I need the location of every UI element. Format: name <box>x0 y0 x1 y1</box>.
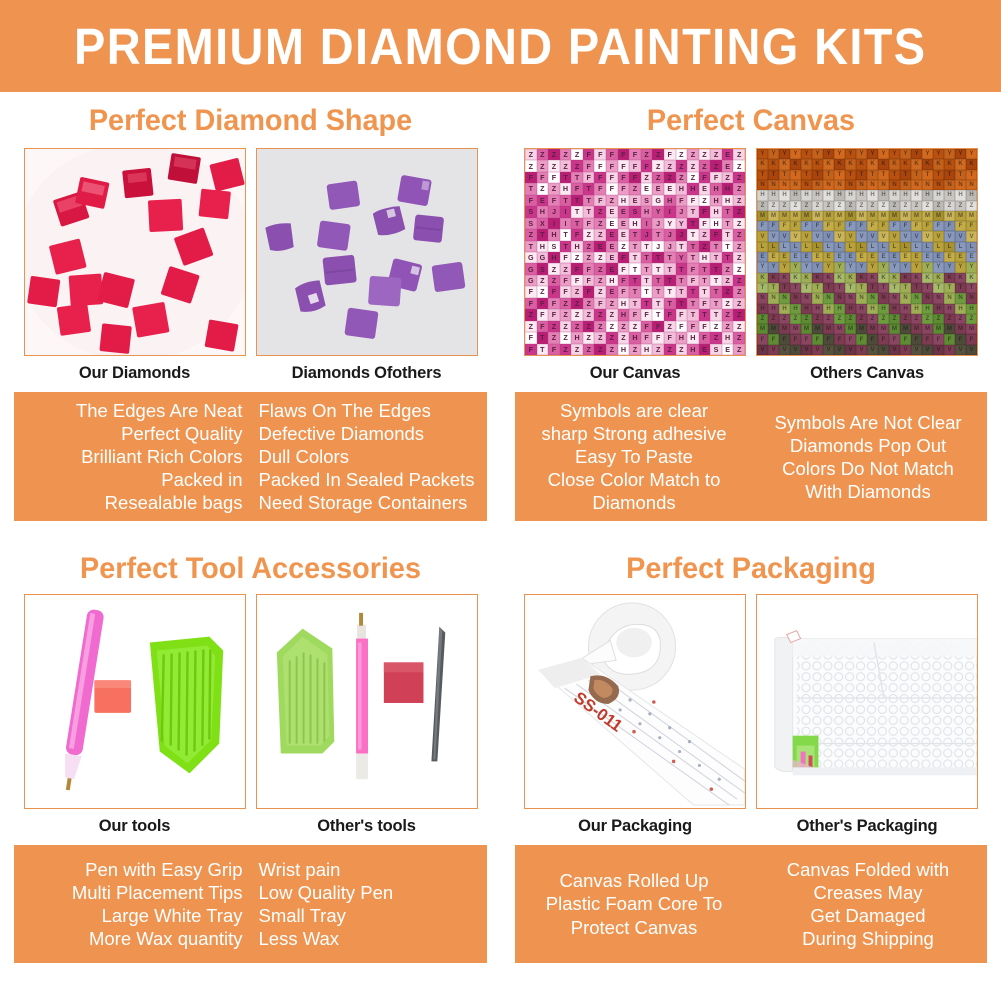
canvas-color-cell: K <box>812 273 823 283</box>
canvas-symbol-cell: H <box>710 206 722 217</box>
canvas-color-cell: Y <box>856 149 867 159</box>
canvas-symbol-cell: J <box>548 206 560 217</box>
canvas-color-cell: N <box>779 293 790 303</box>
canvas-color-cell: K <box>889 273 900 283</box>
canvas-symbol-cell: Z <box>699 195 711 206</box>
canvas-symbol-cell: Z <box>629 183 641 194</box>
canvas-symbol-cell: Z <box>722 309 734 320</box>
canvas-color-cell: K <box>966 273 977 283</box>
compare-line: Creases May <box>751 881 985 904</box>
canvas-color-cell: H <box>911 190 922 200</box>
compare-col-theirs-canvas: Symbols Are Not Clear Diamonds Pop Out C… <box>751 392 987 521</box>
canvas-color-cell: V <box>823 231 834 241</box>
canvas-color-cell: E <box>922 252 933 262</box>
image-row-packaging: SS-011 Our Packaging <box>509 594 993 836</box>
page-header: PREMIUM DIAMOND PAINTING KITS <box>0 0 1001 92</box>
canvas-symbol-cell: F <box>641 160 653 171</box>
canvas-color-cell: H <box>779 304 790 314</box>
canvas-color-cell: Z <box>933 201 944 211</box>
canvas-symbol-cell: E <box>641 183 653 194</box>
canvas-color-cell: F <box>757 221 768 231</box>
canvas-color-cell: H <box>779 190 790 200</box>
canvas-symbol-cell: H <box>548 229 560 240</box>
canvas-symbol-cell: F <box>548 286 560 297</box>
canvas-symbol-cell: Z <box>687 149 699 160</box>
image-row-diamond-shape: Our Diamonds <box>8 148 493 383</box>
canvas-symbol-cell: Z <box>525 149 537 160</box>
canvas-color-cell: K <box>900 273 911 283</box>
canvas-color-cell: M <box>944 324 955 334</box>
canvas-color-cell: K <box>922 159 933 169</box>
canvas-color-cell: N <box>955 180 966 190</box>
image-cell-other-tools: Other's tools <box>256 594 478 836</box>
canvas-symbol-cell: E <box>618 218 630 229</box>
canvas-symbol-cell: T <box>687 286 699 297</box>
canvas-symbol-cell: H <box>687 344 699 355</box>
compare-col-ours-canvas: Symbols are clear sharp Strong adhesive … <box>515 392 751 521</box>
canvas-color-cell: H <box>790 304 801 314</box>
canvas-symbol-cell: T <box>687 206 699 217</box>
canvas-color-cell: M <box>867 211 878 221</box>
canvas-symbol-cell: F <box>537 321 549 332</box>
compare-col-ours-tools: Pen with Easy Grip Multi Placement Tips … <box>14 845 251 963</box>
canvas-color-cell: T <box>966 283 977 293</box>
muddy-color-canvas-illustration: YYYYYYYYYYYYYYYYYYYYKKKKKKKKKKKKKKKKKKKK… <box>757 149 977 355</box>
canvas-color-cell: Y <box>834 262 845 272</box>
canvas-symbol-cell: T <box>664 275 676 286</box>
canvas-symbol-cell: Z <box>664 160 676 171</box>
canvas-color-cell: K <box>856 273 867 283</box>
canvas-symbol-cell: T <box>525 241 537 252</box>
canvas-color-cell: F <box>845 334 856 344</box>
canvas-color-cell: E <box>911 252 922 262</box>
canvas-symbol-cell: T <box>560 172 572 183</box>
canvas-color-cell: N <box>944 180 955 190</box>
photo-frame-other-packaging <box>756 594 978 809</box>
caption-other-diamonds: Diamonds Ofothers <box>256 356 478 383</box>
canvas-color-cell: Z <box>801 201 812 211</box>
canvas-symbol-cell: I <box>641 218 653 229</box>
compare-line: Diamonds <box>517 491 751 514</box>
other-tools-illustration <box>257 595 477 808</box>
canvas-symbol-cell: F <box>594 172 606 183</box>
canvas-symbol-cell: T <box>664 263 676 274</box>
canvas-symbol-cell: F <box>699 332 711 343</box>
canvas-color-cell: K <box>944 159 955 169</box>
compare-col-ours-diamond-shape: The Edges Are Neat Perfect Quality Brill… <box>14 392 251 521</box>
canvas-color-cell: Z <box>922 201 933 211</box>
canvas-color-cell: M <box>867 324 878 334</box>
canvas-color-cell: V <box>911 231 922 241</box>
compare-box-tools: Pen with Easy Grip Multi Placement Tips … <box>14 845 487 963</box>
canvas-color-cell: T <box>823 170 834 180</box>
photo-frame-our-diamonds <box>24 148 246 356</box>
canvas-symbol-cell: Z <box>710 321 722 332</box>
canvas-symbol-cell: F <box>699 206 711 217</box>
canvas-color-cell: M <box>966 211 977 221</box>
canvas-symbol-cell: F <box>606 172 618 183</box>
canvas-symbol-cell: Z <box>571 321 583 332</box>
canvas-color-cell: T <box>757 283 768 293</box>
compare-line: Multi Placement Tips <box>16 881 243 904</box>
canvas-symbol-cell: Z <box>560 332 572 343</box>
canvas-color-cell: Z <box>757 314 768 324</box>
canvas-color-cell: N <box>911 180 922 190</box>
canvas-color-cell: F <box>768 221 779 231</box>
canvas-symbol-cell: H <box>687 332 699 343</box>
canvas-color-cell: N <box>768 180 779 190</box>
canvas-symbol-cell: T <box>652 263 664 274</box>
canvas-color-cell: V <box>834 345 845 355</box>
canvas-symbol-cell: H <box>606 275 618 286</box>
canvas-color-cell: M <box>900 324 911 334</box>
canvas-color-cell: L <box>834 242 845 252</box>
canvas-color-cell: H <box>878 190 889 200</box>
canvas-color-cell: M <box>955 211 966 221</box>
canvas-symbol-cell: F <box>699 172 711 183</box>
canvas-color-cell: N <box>878 180 889 190</box>
canvas-color-cell: Z <box>900 314 911 324</box>
canvas-color-cell: M <box>922 211 933 221</box>
canvas-symbol-cell: T <box>641 241 653 252</box>
compare-line: Wrist pain <box>259 858 486 881</box>
canvas-symbol-cell: Z <box>618 332 630 343</box>
canvas-color-cell: N <box>900 293 911 303</box>
canvas-symbol-cell: F <box>583 160 595 171</box>
canvas-symbol-cell: F <box>676 309 688 320</box>
canvas-color-cell: N <box>790 293 801 303</box>
compare-line: Resealable bags <box>16 491 243 514</box>
canvas-color-cell: T <box>867 283 878 293</box>
compare-line: sharp Strong adhesive <box>517 422 751 445</box>
canvas-symbol-cell: F <box>583 286 595 297</box>
canvas-color-cell: T <box>779 283 790 293</box>
canvas-color-cell: T <box>823 283 834 293</box>
canvas-symbol-cell: F <box>537 172 549 183</box>
canvas-symbol-cell: T <box>652 309 664 320</box>
canvas-color-cell: Y <box>911 149 922 159</box>
canvas-symbol-cell: E <box>629 195 641 206</box>
canvas-color-cell: Y <box>955 149 966 159</box>
section-title-diamond-shape: Perfect Diamond Shape <box>18 92 484 148</box>
section-canvas: Perfect Canvas ZZZZZFFFFFZZFZZZZEZZZZZZF… <box>501 92 1001 536</box>
compare-line: Packed in <box>16 468 243 491</box>
canvas-symbol-cell: E <box>537 195 549 206</box>
green-tray-icon <box>276 629 333 754</box>
purple-diamonds-illustration <box>257 149 477 355</box>
canvas-color-cell: F <box>812 334 823 344</box>
canvas-symbol-cell: J <box>676 229 688 240</box>
canvas-symbol-cell: I <box>548 218 560 229</box>
canvas-color-cell: T <box>845 170 856 180</box>
canvas-color-cell: M <box>790 211 801 221</box>
canvas-symbol-cell: Z <box>733 309 745 320</box>
canvas-symbol-cell: F <box>652 332 664 343</box>
canvas-color-cell: Y <box>757 262 768 272</box>
canvas-color-cell: T <box>878 283 889 293</box>
bubble-mailer-illustration <box>757 595 977 808</box>
canvas-color-cell: Z <box>867 201 878 211</box>
canvas-symbol-cell: F <box>571 183 583 194</box>
canvas-symbol-cell: H <box>676 332 688 343</box>
canvas-symbol-cell: Z <box>710 149 722 160</box>
canvas-color-cell: V <box>845 231 856 241</box>
canvas-color-cell: E <box>856 252 867 262</box>
canvas-color-cell: Z <box>911 201 922 211</box>
canvas-color-cell: L <box>823 242 834 252</box>
canvas-color-cell: H <box>834 190 845 200</box>
compare-line: Packed In Sealed Packets <box>259 468 486 491</box>
canvas-symbol-cell: F <box>594 298 606 309</box>
canvas-color-cell: Z <box>966 201 977 211</box>
canvas-color-cell: H <box>768 304 779 314</box>
canvas-symbol-cell: H <box>618 309 630 320</box>
canvas-symbol-cell: H <box>537 241 549 252</box>
canvas-color-cell: Z <box>966 314 977 324</box>
canvas-symbol-cell: F <box>618 172 630 183</box>
compare-line: Defective Diamonds <box>259 422 486 445</box>
canvas-color-cell: M <box>889 324 900 334</box>
canvas-color-cell: K <box>801 273 812 283</box>
canvas-symbol-cell: Z <box>652 160 664 171</box>
canvas-color-cell: T <box>900 283 911 293</box>
canvas-color-cell: Y <box>966 262 977 272</box>
canvas-color-cell: Z <box>834 201 845 211</box>
compare-line: Brilliant Rich Colors <box>16 445 243 468</box>
canvas-symbol-cell: H <box>629 218 641 229</box>
canvas-symbol-cell: Z <box>733 172 745 183</box>
canvas-color-cell: T <box>944 170 955 180</box>
canvas-color-cell: H <box>911 304 922 314</box>
canvas-symbol-cell: Z <box>733 332 745 343</box>
canvas-symbol-cell: T <box>629 275 641 286</box>
canvas-color-cell: T <box>922 283 933 293</box>
canvas-color-cell: V <box>812 345 823 355</box>
canvas-symbol-cell: T <box>676 241 688 252</box>
canvas-color-cell: K <box>768 273 779 283</box>
canvas-color-cell: V <box>878 345 889 355</box>
canvas-symbol-cell: Z <box>537 183 549 194</box>
canvas-symbol-cell: Z <box>606 332 618 343</box>
canvas-color-cell: H <box>933 304 944 314</box>
canvas-symbol-cell: F <box>618 149 630 160</box>
canvas-symbol-cell: Z <box>676 344 688 355</box>
canvas-symbol-cell: Z <box>618 321 630 332</box>
canvas-symbol-cell: E <box>594 241 606 252</box>
compare-line: Colors Do Not Match <box>751 457 985 480</box>
canvas-symbol-cell: H <box>722 332 734 343</box>
canvas-color-cell: N <box>900 180 911 190</box>
canvas-color-cell: H <box>801 304 812 314</box>
canvas-symbol-cell: E <box>606 218 618 229</box>
canvas-symbol-cell: Z <box>560 309 572 320</box>
canvas-symbol-cell: T <box>664 298 676 309</box>
canvas-color-cell: N <box>922 293 933 303</box>
canvas-color-cell: H <box>823 190 834 200</box>
canvas-color-cell: H <box>955 190 966 200</box>
canvas-symbol-cell: Z <box>687 160 699 171</box>
canvas-color-cell: M <box>955 324 966 334</box>
canvas-symbol-cell: T <box>652 252 664 263</box>
canvas-symbol-cell: S <box>525 206 537 217</box>
canvas-symbol-cell: T <box>687 241 699 252</box>
canvas-symbol-cell: Z <box>699 241 711 252</box>
canvas-color-cell: K <box>812 159 823 169</box>
canvas-symbol-cell: H <box>571 332 583 343</box>
canvas-color-cell: H <box>922 190 933 200</box>
canvas-symbol-cell: F <box>548 172 560 183</box>
canvas-color-cell: F <box>856 334 867 344</box>
canvas-color-cell: V <box>790 345 801 355</box>
canvas-color-cell: Z <box>779 314 790 324</box>
canvas-symbol-cell: Z <box>571 160 583 171</box>
canvas-symbol-cell: F <box>571 275 583 286</box>
canvas-symbol-cell: Z <box>676 160 688 171</box>
canvas-symbol-cell: T <box>652 286 664 297</box>
canvas-symbol-cell: Z <box>537 286 549 297</box>
canvas-color-cell: H <box>889 190 900 200</box>
canvas-color-cell: Y <box>889 262 900 272</box>
canvas-color-cell: H <box>933 190 944 200</box>
canvas-color-cell: F <box>856 221 867 231</box>
image-cell-our-diamonds: Our Diamonds <box>24 148 246 383</box>
canvas-symbol-cell: H <box>618 344 630 355</box>
canvas-symbol-cell: Z <box>583 321 595 332</box>
canvas-symbol-cell: F <box>687 263 699 274</box>
canvas-color-cell: N <box>966 293 977 303</box>
canvas-color-cell: T <box>911 283 922 293</box>
canvas-color-cell: T <box>790 170 801 180</box>
canvas-color-cell: N <box>878 293 889 303</box>
canvas-symbol-cell: T <box>537 229 549 240</box>
canvas-color-cell: V <box>900 231 911 241</box>
canvas-symbol-cell: F <box>560 275 572 286</box>
canvas-color-cell: V <box>801 231 812 241</box>
canvas-color-cell: F <box>933 334 944 344</box>
canvas-symbol-cell: Z <box>594 344 606 355</box>
rolled-tube-illustration: SS-011 <box>525 595 745 808</box>
canvas-symbol-cell: X <box>537 218 549 229</box>
canvas-color-cell: F <box>790 334 801 344</box>
canvas-color-cell: N <box>933 180 944 190</box>
canvas-symbol-cell: Z <box>560 344 572 355</box>
canvas-symbol-cell: Z <box>641 149 653 160</box>
canvas-color-cell: K <box>856 159 867 169</box>
compare-box-diamond-shape: The Edges Are Neat Perfect Quality Brill… <box>14 392 487 521</box>
canvas-symbol-cell: Y <box>676 252 688 263</box>
canvas-color-cell: Z <box>900 201 911 211</box>
canvas-symbol-cell: E <box>606 229 618 240</box>
canvas-color-cell: Y <box>801 149 812 159</box>
canvas-color-cell: E <box>966 252 977 262</box>
canvas-symbol-cell: E <box>606 252 618 263</box>
canvas-color-cell: F <box>834 221 845 231</box>
canvas-symbol-cell: Z <box>594 263 606 274</box>
canvas-color-cell: K <box>922 273 933 283</box>
canvas-color-cell: T <box>922 170 933 180</box>
canvas-color-cell: T <box>768 170 779 180</box>
canvas-symbol-cell: I <box>560 206 572 217</box>
canvas-color-cell: F <box>966 221 977 231</box>
canvas-color-cell: T <box>801 170 812 180</box>
canvas-symbol-cell: Z <box>722 172 734 183</box>
canvas-color-cell: N <box>768 293 779 303</box>
canvas-symbol-cell: Z <box>548 332 560 343</box>
compare-line: Protect Canvas <box>517 916 751 939</box>
canvas-color-cell: N <box>955 293 966 303</box>
canvas-color-cell: M <box>834 211 845 221</box>
canvas-color-cell: N <box>823 293 834 303</box>
canvas-color-cell: T <box>911 170 922 180</box>
section-tools: Perfect Tool Accessories <box>0 536 501 963</box>
canvas-symbol-cell: Z <box>583 309 595 320</box>
canvas-color-cell: N <box>856 180 867 190</box>
canvas-color-cell: H <box>757 304 768 314</box>
canvas-color-cell: M <box>944 211 955 221</box>
canvas-color-cell: F <box>801 221 812 231</box>
canvas-symbol-cell: T <box>537 344 549 355</box>
canvas-color-cell: V <box>911 345 922 355</box>
canvas-symbol-cell: Z <box>652 344 664 355</box>
canvas-color-cell: E <box>757 252 768 262</box>
canvas-symbol-cell: T <box>710 309 722 320</box>
canvas-symbol-cell: H <box>722 183 734 194</box>
canvas-color-cell: L <box>966 242 977 252</box>
canvas-symbol-cell: J <box>664 241 676 252</box>
canvas-color-cell: V <box>856 231 867 241</box>
canvas-symbol-cell: F <box>560 286 572 297</box>
canvas-symbol-cell: Z <box>699 149 711 160</box>
canvas-symbol-cell: F <box>571 229 583 240</box>
canvas-symbol-cell: Z <box>571 252 583 263</box>
caption-our-diamonds: Our Diamonds <box>24 356 246 383</box>
photo-frame-other-canvas: YYYYYYYYYYYYYYYYYYYYKKKKKKKKKKKKKKKKKKKK… <box>756 148 978 356</box>
canvas-symbol-cell: Z <box>687 172 699 183</box>
canvas-symbol-cell: T <box>722 218 734 229</box>
canvas-color-cell: Y <box>900 149 911 159</box>
canvas-color-cell: T <box>801 283 812 293</box>
canvas-color-cell: N <box>933 293 944 303</box>
canvas-symbol-cell: T <box>629 263 641 274</box>
canvas-color-cell: K <box>955 159 966 169</box>
canvas-color-cell: F <box>867 334 878 344</box>
canvas-symbol-cell: F <box>525 344 537 355</box>
canvas-symbol-cell: S <box>629 206 641 217</box>
canvas-symbol-cell: H <box>641 206 653 217</box>
canvas-symbol-cell: F <box>548 298 560 309</box>
canvas-color-cell: V <box>933 231 944 241</box>
canvas-color-cell: Y <box>889 149 900 159</box>
canvas-symbol-cell: Y <box>676 218 688 229</box>
canvas-symbol-cell: T <box>699 309 711 320</box>
canvas-symbol-cell: T <box>641 286 653 297</box>
canvas-color-cell: F <box>757 334 768 344</box>
canvas-symbol-cell: S <box>710 344 722 355</box>
canvas-color-cell: K <box>845 159 856 169</box>
canvas-color-cell: H <box>944 304 955 314</box>
canvas-symbol-cell: T <box>722 241 734 252</box>
canvas-color-cell: Z <box>768 314 779 324</box>
canvas-symbol-cell: T <box>652 298 664 309</box>
canvas-color-cell: E <box>955 252 966 262</box>
section-title-tools: Perfect Tool Accessories <box>18 536 484 594</box>
canvas-color-cell: V <box>878 231 889 241</box>
photo-frame-our-packaging: SS-011 <box>524 594 746 809</box>
compare-line: With Diamonds <box>751 480 985 503</box>
canvas-color-cell: L <box>900 242 911 252</box>
image-cell-our-tools: Our tools <box>24 594 246 836</box>
canvas-symbol-cell: J <box>641 229 653 240</box>
